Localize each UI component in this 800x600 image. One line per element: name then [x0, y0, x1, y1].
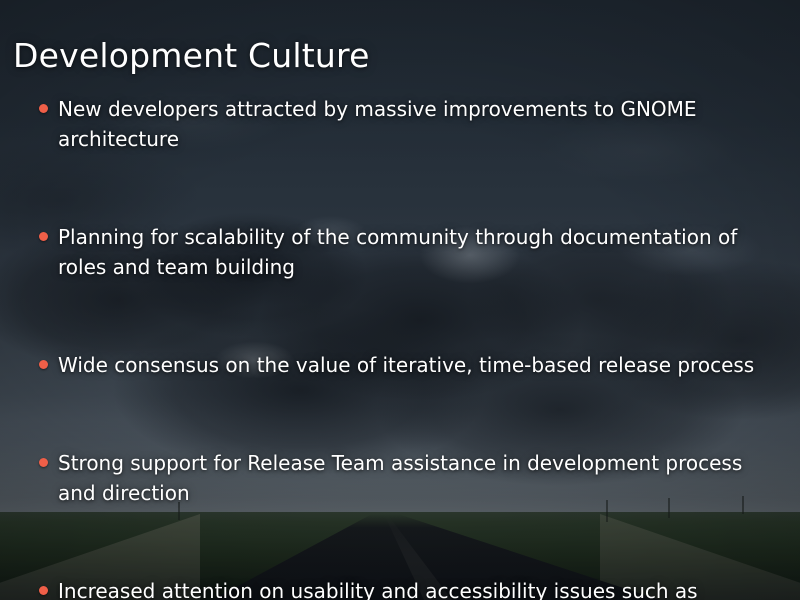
bullet-dot-icon [39, 104, 48, 113]
bullet-list: New developers attracted by massive impr… [38, 94, 783, 600]
list-item: New developers attracted by massive impr… [38, 94, 783, 154]
presentation-slide: Development Culture New developers attra… [0, 0, 800, 600]
bullet-text: Planning for scalability of the communit… [58, 225, 737, 279]
list-item: Planning for scalability of the communit… [38, 222, 783, 282]
slide-content: Development Culture New developers attra… [0, 0, 800, 600]
bullet-dot-icon [39, 458, 48, 467]
slide-title: Development Culture [13, 36, 370, 75]
bullet-dot-icon [39, 232, 48, 241]
bullet-text: New developers attracted by massive impr… [58, 97, 697, 151]
list-item: Strong support for Release Team assistan… [38, 448, 783, 508]
list-item: Wide consensus on the value of iterative… [38, 350, 783, 380]
bullet-dot-icon [39, 586, 48, 595]
bullet-text: Wide consensus on the value of iterative… [58, 353, 754, 377]
bullet-text: Strong support for Release Team assistan… [58, 451, 742, 505]
list-item: Increased attention on usability and acc… [38, 576, 783, 600]
bullet-text: Increased attention on usability and acc… [58, 579, 698, 600]
bullet-dot-icon [39, 360, 48, 369]
